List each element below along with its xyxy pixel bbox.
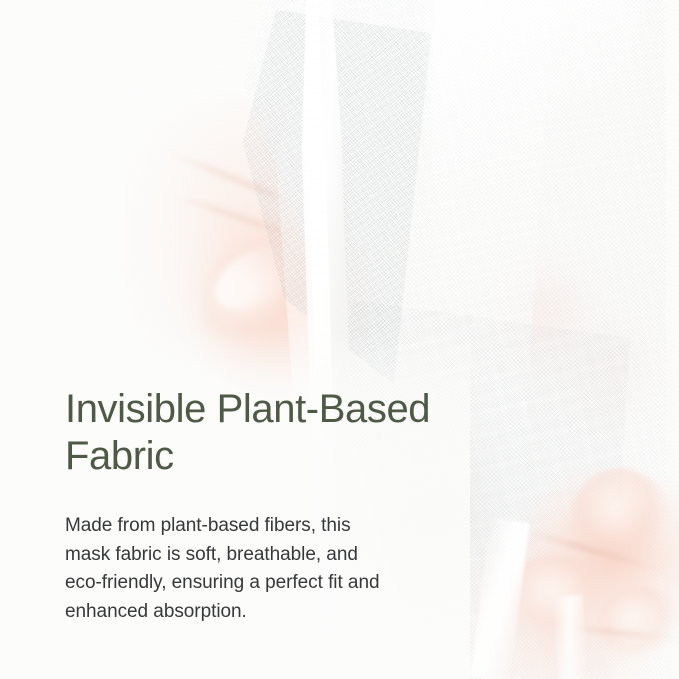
body-copy: Made from plant-based fibers, this mask …	[65, 512, 565, 626]
product-feature-image: Invisible Plant-Based Fabric Made from p…	[0, 0, 679, 679]
headline: Invisible Plant-Based Fabric	[65, 386, 565, 480]
caption-block: Invisible Plant-Based Fabric Made from p…	[65, 386, 565, 626]
